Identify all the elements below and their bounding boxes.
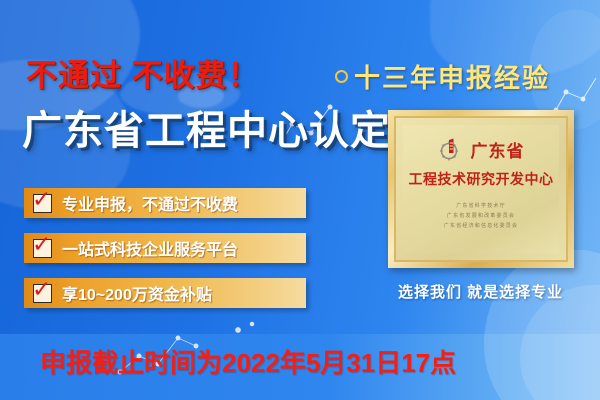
feature-label: 一站式科技企业服务平台 <box>62 236 238 260</box>
checkbox-checked-icon: ✓ <box>33 239 52 258</box>
plaque-subtitle: 工程技术研究开发中心 <box>409 169 554 189</box>
checkbox-checked-icon: ✓ <box>33 284 52 303</box>
circle-bullet-icon <box>335 70 348 83</box>
feature-list: ✓ 专业申报，不通过不收费 ✓ 一站式科技企业服务平台 ✓ 享10~200万资金… <box>24 188 306 323</box>
wave-shape <box>484 250 600 400</box>
gear-tower-emblem-icon <box>438 136 464 162</box>
plaque-issuer-list: 广东省科学技术厅 广东省发展和改革委员会 广东省经济和信息化委员会 <box>444 202 518 229</box>
plaque-issuer: 广东省经济和信息化委员会 <box>444 222 518 229</box>
feature-label: 享10~200万资金补贴 <box>62 281 212 305</box>
certificate-plaque: 广东省 工程技术研究开发中心 广东省科学技术厅 广东省发展和改革委员会 广东省经… <box>388 110 574 268</box>
deadline-notice: 申报截止时间为2022年5月31日17点 <box>40 343 456 380</box>
experience-label: 十三年申报经验 <box>354 58 550 95</box>
kicker-headline: 不通过 不收费！ <box>26 50 260 95</box>
experience-heading: 十三年申报经验 <box>335 58 550 95</box>
wave-shape <box>520 285 600 400</box>
checkbox-checked-icon: ✓ <box>33 194 52 213</box>
plaque-issuer: 广东省科学技术厅 <box>456 202 506 209</box>
feature-item[interactable]: ✓ 一站式科技企业服务平台 <box>24 233 306 263</box>
plaque-title-row: 广东省 <box>438 136 525 162</box>
feature-label: 专业申报，不通过不收费 <box>62 191 238 215</box>
promo-banner: 不通过 不收费！ 广东省工程中心认定 ✓ 专业申报，不通过不收费 ✓ 一站式科技… <box>0 0 600 400</box>
feature-item[interactable]: ✓ 享10~200万资金补贴 <box>24 278 306 308</box>
plaque-frame-inner: 广东省 工程技术研究开发中心 广东省科学技术厅 广东省发展和改革委员会 广东省经… <box>394 116 568 262</box>
plaque-face: 广东省 工程技术研究开发中心 广东省科学技术厅 广东省发展和改革委员会 广东省经… <box>403 125 559 253</box>
slogan-text: 选择我们 就是选择专业 <box>398 281 563 302</box>
plaque-issuer: 广东省发展和改革委员会 <box>447 212 515 219</box>
page-title: 广东省工程中心认定 <box>22 98 391 156</box>
feature-item[interactable]: ✓ 专业申报，不通过不收费 <box>24 188 306 218</box>
plaque-title: 广东省 <box>471 137 525 162</box>
